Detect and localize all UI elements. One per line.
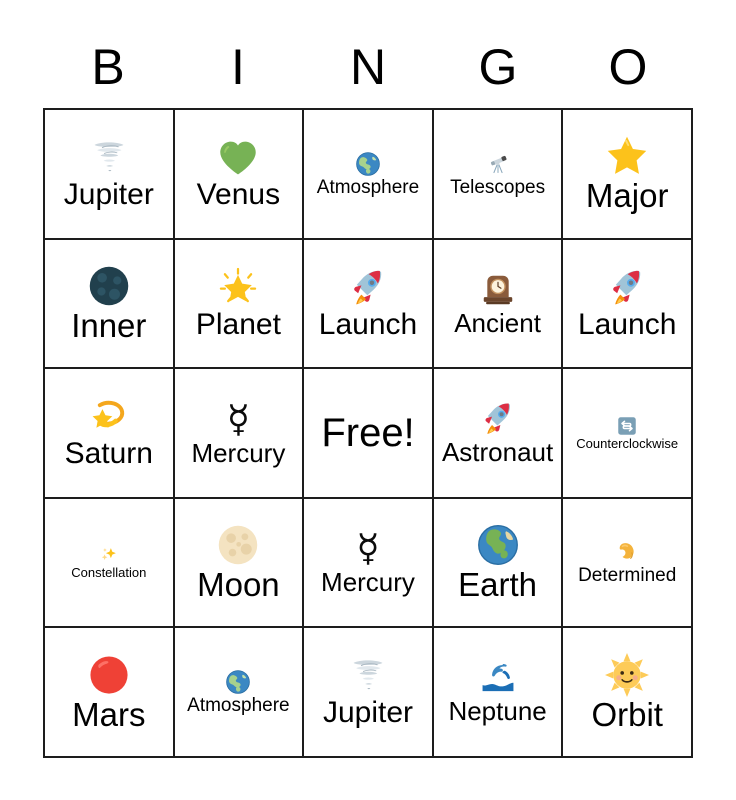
bingo-cell[interactable]: Determined bbox=[563, 499, 693, 629]
bingo-cell-label: Free! bbox=[321, 413, 414, 454]
bingo-header-letter-i: I bbox=[173, 34, 303, 100]
bingo-cell-label: Atmosphere bbox=[317, 178, 419, 197]
bingo-cell[interactable]: Earth bbox=[434, 499, 564, 629]
flexed-biceps-icon bbox=[614, 539, 640, 565]
bingo-cell-label: Astronaut bbox=[442, 439, 553, 466]
bingo-cell[interactable]: Constellation bbox=[45, 499, 175, 629]
mantelpiece-clock-icon bbox=[479, 271, 517, 309]
tornado-icon bbox=[347, 655, 389, 697]
bingo-cell-label: Launch bbox=[578, 310, 676, 341]
bingo-cell[interactable]: Ancient bbox=[434, 240, 564, 370]
telescope-icon bbox=[485, 151, 511, 177]
bingo-cell-label: Mars bbox=[72, 698, 145, 732]
bingo-cell[interactable]: ☿Mercury bbox=[175, 369, 305, 499]
bingo-cell-free-space[interactable]: Free! bbox=[304, 369, 434, 499]
bingo-header: BINGO bbox=[43, 34, 693, 100]
bingo-cell[interactable]: Moon bbox=[175, 499, 305, 629]
bingo-cell[interactable]: Atmosphere bbox=[175, 628, 305, 758]
bingo-card: BINGO JupiterVenusAtmosphereTelescopesMa… bbox=[0, 0, 736, 800]
bingo-header-letter-n: N bbox=[303, 34, 433, 100]
bingo-cell[interactable]: Atmosphere bbox=[304, 110, 434, 240]
bingo-cell[interactable]: Counterclockwise bbox=[563, 369, 693, 499]
earth-globe-europe-icon bbox=[225, 669, 251, 695]
earth-globe-africa-icon bbox=[476, 523, 520, 567]
bingo-cell[interactable]: Telescopes bbox=[434, 110, 564, 240]
bingo-cell-label: Moon bbox=[197, 568, 280, 602]
bingo-cell-label: Jupiter bbox=[64, 180, 154, 211]
glowing-star-icon bbox=[217, 267, 259, 309]
rocket-icon bbox=[479, 400, 517, 438]
bingo-cell[interactable]: Major bbox=[563, 110, 693, 240]
bingo-cell[interactable]: Orbit bbox=[563, 628, 693, 758]
yellow-star-icon bbox=[605, 134, 649, 178]
bingo-cell-label: Atmosphere bbox=[187, 696, 289, 715]
bingo-cell[interactable]: Jupiter bbox=[45, 110, 175, 240]
bingo-header-letter-b: B bbox=[43, 34, 173, 100]
bingo-cell[interactable]: Saturn bbox=[45, 369, 175, 499]
green-heart-icon bbox=[217, 137, 259, 179]
bingo-cell[interactable]: Astronaut bbox=[434, 369, 564, 499]
bingo-cell[interactable]: Launch bbox=[304, 240, 434, 370]
tornado-icon bbox=[88, 137, 130, 179]
bingo-cell-label: Venus bbox=[197, 180, 280, 211]
bingo-cell-label: Ancient bbox=[454, 310, 541, 337]
bingo-cell[interactable]: Venus bbox=[175, 110, 305, 240]
bingo-grid: JupiterVenusAtmosphereTelescopesMajorInn… bbox=[43, 108, 693, 758]
bingo-cell-label: Orbit bbox=[591, 698, 663, 732]
bingo-header-letter-o: O bbox=[563, 34, 693, 100]
bingo-cell-label: Planet bbox=[196, 310, 281, 341]
water-wave-icon bbox=[479, 659, 517, 697]
bingo-cell-label: Inner bbox=[71, 309, 146, 343]
bingo-cell-label: Determined bbox=[578, 566, 676, 585]
bingo-cell-label: Launch bbox=[319, 310, 417, 341]
bingo-cell-label: Earth bbox=[458, 568, 537, 602]
dizzy-star-icon bbox=[88, 396, 130, 438]
bingo-cell-label: Constellation bbox=[71, 566, 146, 579]
bingo-cell-label: Counterclockwise bbox=[576, 437, 678, 450]
bingo-cell-label: Neptune bbox=[448, 698, 546, 725]
red-circle-icon bbox=[87, 653, 131, 697]
bingo-header-letter-g: G bbox=[433, 34, 563, 100]
sun-with-face-icon bbox=[605, 653, 649, 697]
counterclockwise-arrows-icon bbox=[617, 416, 637, 436]
rocket-icon bbox=[347, 267, 389, 309]
bingo-cell-label: Telescopes bbox=[450, 178, 545, 197]
bingo-cell[interactable]: Neptune bbox=[434, 628, 564, 758]
mercury-symbol-icon: ☿ bbox=[356, 529, 379, 568]
new-moon-icon bbox=[87, 264, 131, 308]
bingo-cell-label: Saturn bbox=[65, 439, 153, 470]
rocket-icon bbox=[606, 267, 648, 309]
bingo-cell-label: Mercury bbox=[321, 569, 415, 596]
bingo-cell-label: Jupiter bbox=[323, 698, 413, 729]
bingo-cell[interactable]: Planet bbox=[175, 240, 305, 370]
bingo-cell[interactable]: ☿Mercury bbox=[304, 499, 434, 629]
earth-globe-europe-icon bbox=[355, 151, 381, 177]
mercury-symbol-icon: ☿ bbox=[227, 400, 250, 439]
sparkles-icon bbox=[99, 545, 119, 565]
full-moon-icon bbox=[216, 523, 260, 567]
bingo-cell[interactable]: Launch bbox=[563, 240, 693, 370]
bingo-cell-label: Major bbox=[586, 179, 669, 213]
bingo-cell[interactable]: Inner bbox=[45, 240, 175, 370]
bingo-cell[interactable]: Jupiter bbox=[304, 628, 434, 758]
bingo-cell[interactable]: Mars bbox=[45, 628, 175, 758]
bingo-cell-label: Mercury bbox=[191, 440, 285, 467]
